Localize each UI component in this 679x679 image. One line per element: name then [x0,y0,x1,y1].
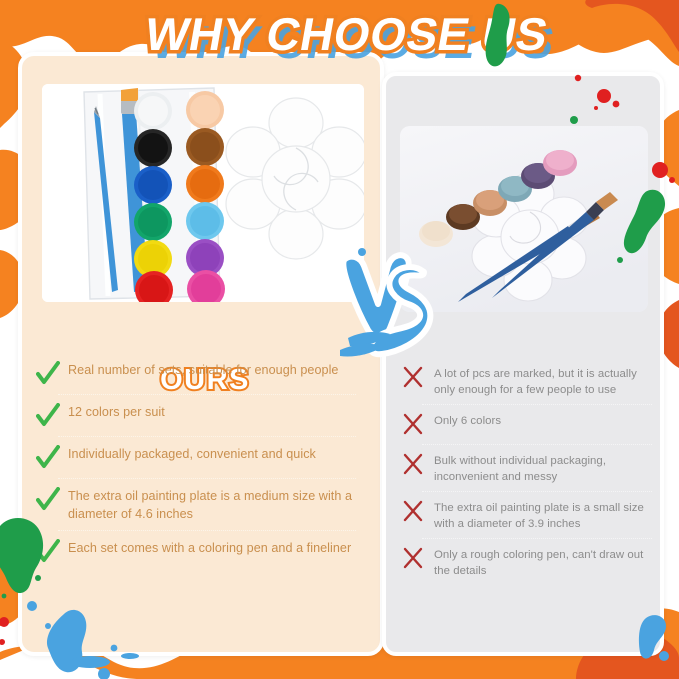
feature-text: Bulk without individual packaging, incon… [434,451,652,485]
feature-text: Only a rough coloring pen, can't draw ou… [434,545,652,579]
list-divider [422,444,652,445]
check-icon [36,403,60,429]
cross-icon [402,412,426,438]
list-divider [422,538,652,539]
list-item: Each set comes with a coloring pen and a… [36,538,356,565]
feature-text: The extra oil painting plate is a medium… [68,486,356,523]
list-divider [58,478,356,479]
list-item: The extra oil painting plate is a medium… [36,486,356,523]
list-item: Real number of sets, suitable for enough… [36,360,356,387]
check-icon [36,361,60,387]
feature-text: Real number of sets, suitable for enough… [68,360,339,380]
comparison-infographic: OURS [0,0,679,679]
list-item: A lot of pcs are marked, but it is actua… [402,364,652,398]
list-divider [58,530,356,531]
cross-icon [402,499,426,525]
check-icon [36,445,60,471]
cross-icon [402,546,426,572]
list-item: Only a rough coloring pen, can't draw ou… [402,545,652,579]
check-icon [36,539,60,565]
cross-icon [402,452,426,478]
list-item: 12 colors per suit [36,402,356,429]
theirs-product-photo [400,126,648,312]
list-divider [58,394,356,395]
list-item: The extra oil painting plate is a small … [402,498,652,532]
feature-text: 12 colors per suit [68,402,165,422]
feature-text: Each set comes with a coloring pen and a… [68,538,351,558]
ours-feature-list: Real number of sets, suitable for enough… [36,360,356,565]
ours-product-photo [42,84,364,302]
ours-card: OURS [18,52,384,656]
list-divider [58,436,356,437]
cross-icon [402,365,426,391]
list-divider [422,491,652,492]
feature-text: Only 6 colors [434,411,501,429]
list-item: Bulk without individual packaging, incon… [402,451,652,485]
list-divider [422,404,652,405]
theirs-feature-list: A lot of pcs are marked, but it is actua… [402,364,652,579]
feature-text: The extra oil painting plate is a small … [434,498,652,532]
list-item: Only 6 colors [402,411,652,438]
feature-text: Individually packaged, convenient and qu… [68,444,316,464]
feature-text: A lot of pcs are marked, but it is actua… [434,364,652,398]
list-item: Individually packaged, convenient and qu… [36,444,356,471]
check-icon [36,487,60,513]
